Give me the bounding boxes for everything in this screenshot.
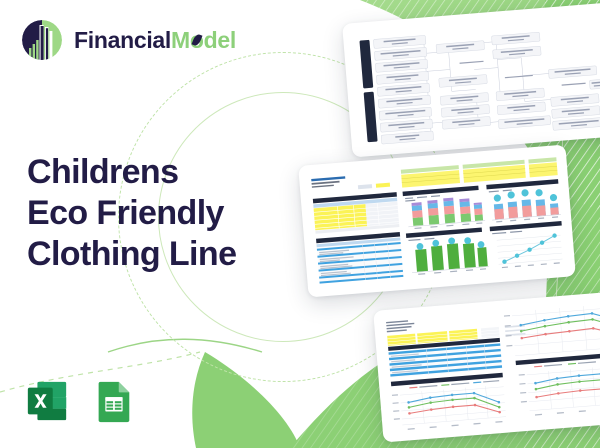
- page-title-line-2: Eco Friendly: [27, 193, 236, 234]
- brand-name-part2: Model: [171, 27, 236, 53]
- financial-line-charts-thumbnail: [380, 296, 600, 436]
- microsoft-excel-icon[interactable]: [24, 378, 70, 424]
- dashboard-content: [305, 151, 570, 291]
- brand-name: FinancialModel: [74, 27, 236, 54]
- brand-name-m: M: [171, 27, 190, 53]
- financial-model-circle-chart-logo-icon: [20, 18, 64, 62]
- format-icons: [24, 378, 136, 424]
- poster-canvas: FinancialModel Childrens Eco Friendly Cl…: [0, 0, 600, 448]
- charts-content: [380, 296, 600, 436]
- page-title: Childrens Eco Friendly Clothing Line: [27, 152, 236, 275]
- page-title-line-3: Clothing Line: [27, 234, 236, 275]
- page-title-line-1: Childrens: [27, 152, 236, 193]
- brand-name-o: o: [190, 27, 204, 54]
- google-sheets-icon[interactable]: [90, 378, 136, 424]
- dupont-analysis-diagram: [349, 9, 600, 151]
- brand-name-part1: Financial: [74, 27, 171, 53]
- preview-card-dashboard[interactable]: [298, 144, 576, 297]
- preview-card-dupont-tree[interactable]: [342, 2, 600, 157]
- financial-dashboard-thumbnail: [305, 151, 570, 291]
- brand-logo: FinancialModel: [20, 18, 236, 62]
- dupont-tree-content: [349, 9, 600, 151]
- preview-card-charts[interactable]: [373, 289, 600, 442]
- brand-name-del: del: [204, 27, 236, 53]
